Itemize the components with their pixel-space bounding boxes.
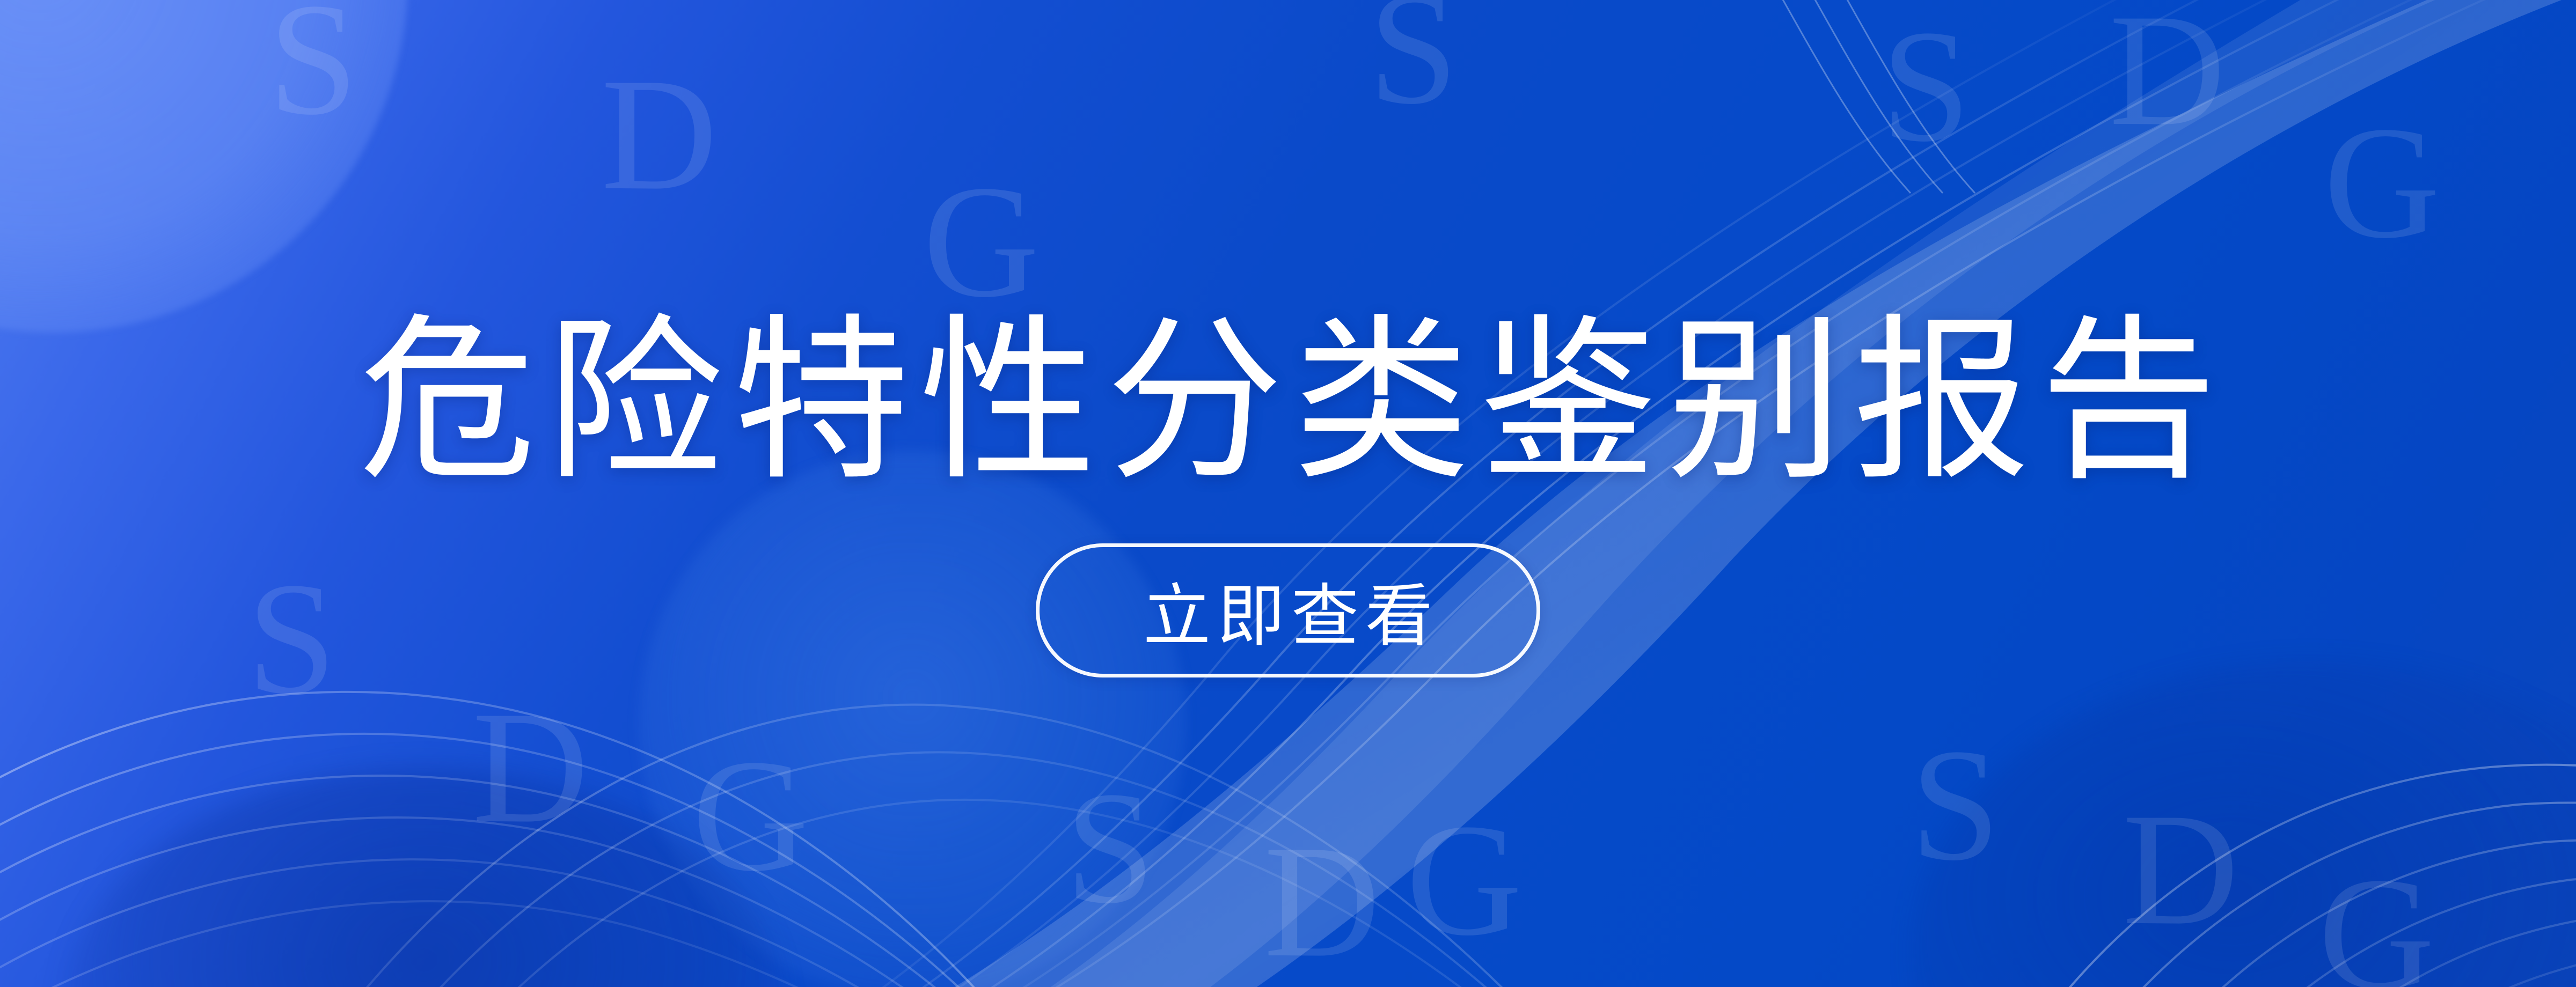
view-now-button[interactable]: 立即查看 — [1036, 543, 1540, 677]
banner-content: 危险特性分类鉴别报告 立即查看 — [0, 0, 2576, 987]
promo-banner: SDGSDSGSDGSDGSDG — [0, 0, 2576, 987]
page-title: 危险特性分类鉴别报告 — [349, 310, 2227, 494]
